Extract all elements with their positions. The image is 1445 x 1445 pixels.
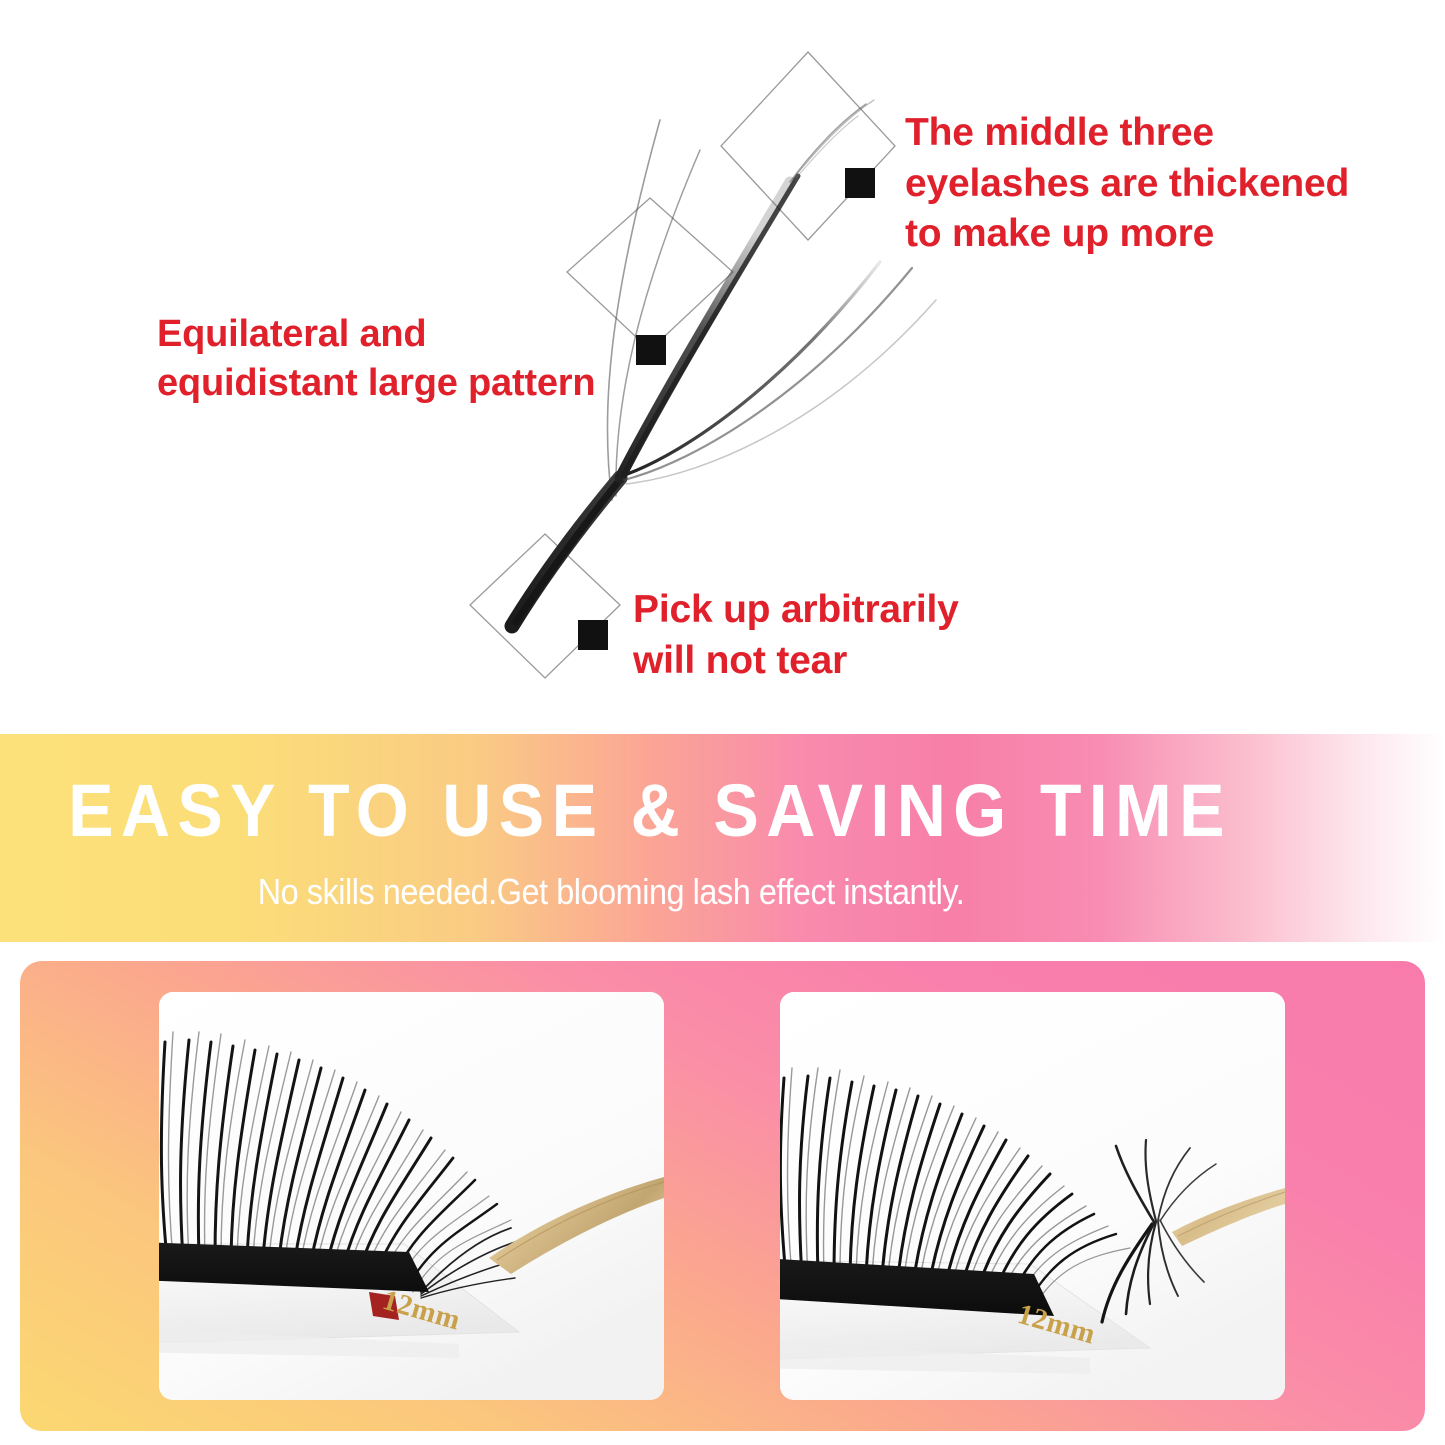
callout-middle-three-thickened: The middle three eyelashes are thickened… xyxy=(905,108,1349,260)
photo-card-lash-strip-with-tweezers[interactable]: 12mm xyxy=(159,992,664,1400)
easy-to-use-banner: EASY TO USE & SAVING TIME No skills need… xyxy=(0,734,1445,942)
banner-headline: EASY TO USE & SAVING TIME xyxy=(52,774,1248,848)
callout-marker-bottom xyxy=(578,620,608,650)
photo-card-lash-fan-pickup[interactable]: 12mm xyxy=(780,992,1285,1400)
diamond-outline-top xyxy=(721,52,895,240)
callout-equilateral-pattern: Equilateral and equidistant large patter… xyxy=(157,310,595,409)
callout-marker-top xyxy=(845,168,875,198)
feature-diagram-section: The middle three eyelashes are thickened… xyxy=(0,0,1445,730)
product-photo-gallery-panel: 12mm xyxy=(20,961,1425,1431)
diamond-outline-bottom xyxy=(470,534,620,678)
callout-marker-middle xyxy=(636,335,666,365)
banner-subheadline: No skills needed.Get blooming lash effec… xyxy=(61,874,1161,910)
lash-fan-pickup-photo: 12mm xyxy=(780,992,1285,1400)
lash-strip-photo: 12mm xyxy=(159,992,664,1400)
callout-pick-up-no-tear: Pick up arbitrarily will not tear xyxy=(633,585,959,686)
